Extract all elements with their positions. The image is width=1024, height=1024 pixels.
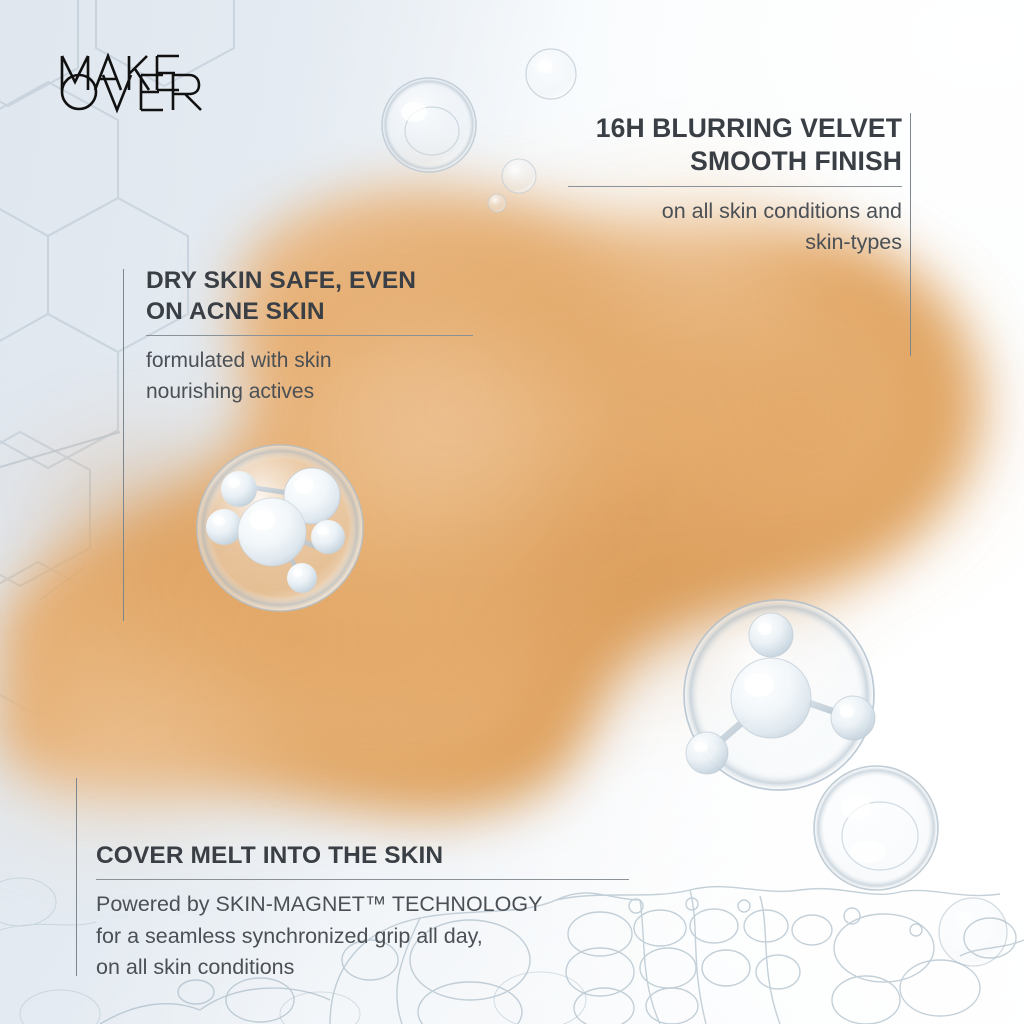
velvet-accent-line — [910, 113, 911, 356]
cover-melt-subtext-line3: on all skin conditions — [96, 952, 629, 984]
make-over-logo — [55, 48, 230, 118]
dry-skin-heading-line2: ON ACNE SKIN — [146, 296, 473, 327]
dry-skin-subtext-line1: formulated with skin — [146, 345, 473, 376]
feature-cover-melt: COVER MELT INTO THE SKIN Powered by SKIN… — [96, 840, 629, 984]
velvet-heading: 16H BLURRING VELVET SMOOTH FINISH — [568, 112, 902, 178]
product-feature-graphic: 16H BLURRING VELVET SMOOTH FINISH on all… — [0, 0, 1024, 1024]
cover-melt-subtext-line1: Powered by SKIN-MAGNET™ TECHNOLOGY — [96, 889, 629, 921]
cover-melt-divider — [96, 879, 629, 880]
dry-skin-subtext: formulated with skin nourishing actives — [146, 345, 473, 407]
velvet-subtext-line2: skin-types — [568, 227, 902, 258]
velvet-heading-line1: 16H BLURRING VELVET — [568, 112, 902, 145]
feature-velvet: 16H BLURRING VELVET SMOOTH FINISH on all… — [568, 112, 902, 258]
cover-melt-subtext-line2: for a seamless synchronized grip all day… — [96, 921, 629, 953]
dry-skin-divider — [146, 335, 473, 336]
dry-skin-heading-line1: DRY SKIN SAFE, EVEN — [146, 265, 473, 296]
dry-skin-heading: DRY SKIN SAFE, EVEN ON ACNE SKIN — [146, 265, 473, 327]
dry-skin-accent-line — [123, 269, 124, 621]
cover-melt-accent-line — [76, 778, 77, 976]
velvet-subtext: on all skin conditions and skin-types — [568, 196, 902, 258]
cover-melt-heading: COVER MELT INTO THE SKIN — [96, 840, 629, 871]
cover-melt-subtext: Powered by SKIN-MAGNET™ TECHNOLOGY for a… — [96, 889, 629, 984]
feature-dry-skin: DRY SKIN SAFE, EVEN ON ACNE SKIN formula… — [146, 265, 473, 407]
velvet-divider — [568, 186, 902, 187]
velvet-heading-line2: SMOOTH FINISH — [568, 145, 902, 178]
velvet-subtext-line1: on all skin conditions and — [568, 196, 902, 227]
dry-skin-subtext-line2: nourishing actives — [146, 376, 473, 407]
